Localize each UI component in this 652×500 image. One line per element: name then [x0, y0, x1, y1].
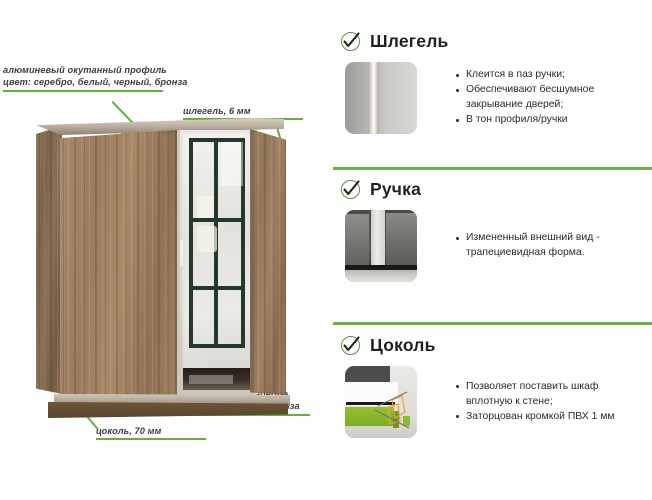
section-divider-1 [333, 167, 652, 170]
feature-section-shlegel: Шлегель Клеится в паз ручки; Обеспечиваю… [333, 28, 652, 134]
section-body-plinth: Позволяет поставить шкаф вплотную к стен… [333, 366, 652, 438]
list-item: Позволяет поставить шкаф [455, 380, 615, 394]
bullet-list-plinth: Позволяет поставить шкаф вплотную к стен… [455, 380, 615, 425]
wardrobe-door-mirror [177, 130, 257, 396]
feature-section-handle: Ручка Измененный внешний вид - трапециев… [333, 176, 652, 282]
feature-section-plinth: Цоколь Позволяет поставить шкаф вплотную… [333, 332, 652, 438]
list-item: Клеится в паз ручки; [455, 68, 594, 82]
check-circle-icon [340, 31, 361, 52]
wardrobe-illustration [36, 118, 286, 408]
section-title-plinth: Цоколь [370, 335, 436, 356]
section-body-shlegel: Клеится в паз ручки; Обеспечивают бесшум… [333, 62, 652, 134]
list-item: вплотную к стене; [455, 395, 615, 409]
list-item: закрывание дверей; [455, 98, 594, 112]
callout-profile-line1: алюминевый окутанный профиль [3, 64, 163, 76]
section-title-shlegel: Шлегель [370, 31, 449, 52]
check-circle-icon [340, 179, 361, 200]
list-item: трапециевидная форма. [455, 246, 600, 260]
mirror-rug-reflection [189, 375, 233, 384]
check-circle-icon [340, 335, 361, 356]
callout-shlegel-line1: шлегель, 6 мм [183, 105, 303, 117]
section-body-handle: Измененный внешний вид - трапециевидная … [333, 210, 652, 282]
callout-plinth: цоколь, 70 мм [96, 425, 206, 440]
wardrobe-diagram-panel: алюминевый окутанный профиль цвет: сереб… [0, 0, 330, 500]
wardrobe-door-right [250, 129, 286, 395]
features-panel: Шлегель Клеится в паз ручки; Обеспечиваю… [333, 0, 652, 500]
mirror-floor-reflection [183, 368, 251, 390]
callout-profile: алюминевый окутанный профиль цвет: сереб… [3, 64, 163, 92]
door-handle-profile [180, 240, 183, 266]
section-header-plinth: Цоколь [333, 332, 652, 358]
section-header-shlegel: Шлегель [333, 28, 652, 54]
list-item: Измененный внешний вид - [455, 231, 600, 245]
callout-plinth-underline [96, 438, 206, 440]
bullet-list-shlegel: Клеится в паз ручки; Обеспечивают бесшум… [455, 68, 594, 128]
callout-plinth-line1: цоколь, 70 мм [96, 425, 206, 437]
list-item: Заторцован кромкой ПВХ 1 мм [455, 410, 615, 424]
section-title-handle: Ручка [370, 179, 421, 200]
mirror-glass [183, 134, 251, 370]
shlegel-photo-thumbnail[interactable] [345, 62, 417, 134]
callout-profile-underline [3, 90, 163, 92]
plinth-photo-thumbnail[interactable] [345, 366, 417, 438]
list-item: Обеспечивают бесшумное [455, 83, 594, 97]
list-item: В тон профиля/ручки [455, 113, 594, 127]
callout-profile-line2: цвет: серебро, белый, черный, бронза [3, 76, 163, 88]
wardrobe-door-left [60, 130, 178, 400]
section-header-handle: Ручка [333, 176, 652, 202]
bullet-list-handle: Измененный внешний вид - трапециевидная … [455, 231, 600, 261]
handle-photo-thumbnail[interactable] [345, 210, 417, 282]
wardrobe-side-wall [36, 126, 62, 394]
section-divider-2 [333, 322, 652, 325]
